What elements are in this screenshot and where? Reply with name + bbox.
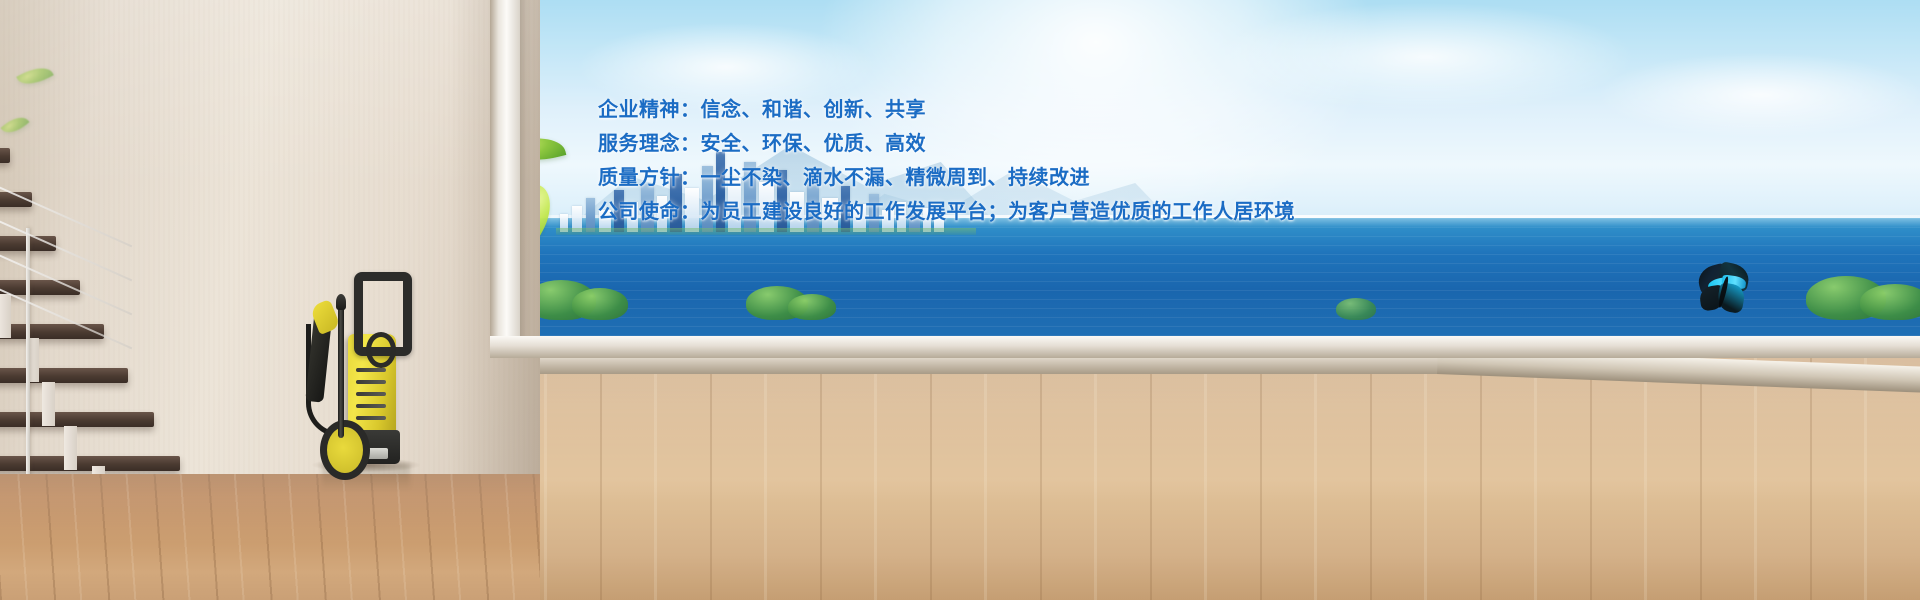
stair-step — [0, 368, 128, 383]
stair-riser — [64, 426, 77, 470]
washer-lance — [338, 304, 344, 438]
culture-line-quality: 质量方针：一尘不染、滴水不漏、精微周到、持续改进 — [598, 160, 1295, 194]
stair-riser — [42, 382, 55, 426]
washer-hose-reel — [366, 332, 396, 368]
washer-vent — [356, 368, 386, 372]
pressure-washer — [306, 258, 424, 470]
washer-vent — [356, 392, 386, 396]
shrub — [1336, 298, 1376, 320]
shrub — [572, 288, 628, 320]
washer-lance-tip — [336, 294, 346, 310]
stair-step — [0, 148, 10, 163]
culture-line-spirit: 企业精神：信念、和谐、创新、共享 — [598, 92, 1295, 126]
washer-vent — [356, 380, 386, 384]
stair-step — [0, 324, 104, 339]
interior-room — [0, 0, 540, 600]
butterfly — [1692, 264, 1754, 316]
cloud — [1596, 52, 1920, 138]
window-frame-left — [490, 0, 520, 358]
city-greenbelt — [556, 228, 976, 235]
stair-riser — [0, 294, 11, 338]
window-sill — [490, 336, 1920, 358]
corporate-culture-banner: 企业精神：信念、和谐、创新、共享 服务理念：安全、环保、优质、高效 质量方针：一… — [0, 0, 1920, 600]
shrub — [788, 294, 836, 320]
staircase — [0, 148, 230, 478]
washer-vent — [356, 416, 386, 420]
floor-gloss — [490, 350, 1920, 600]
wooden-floor-right — [490, 350, 1920, 600]
culture-line-service: 服务理念：安全、环保、优质、高效 — [598, 126, 1295, 160]
floor-gloss — [0, 474, 540, 600]
building — [586, 198, 595, 232]
culture-text-block: 企业精神：信念、和谐、创新、共享 服务理念：安全、环保、优质、高效 质量方针：一… — [598, 92, 1295, 228]
washer-vent — [356, 404, 386, 408]
stair-step — [0, 412, 154, 427]
shrub — [1860, 284, 1920, 320]
washer-wheel — [320, 420, 370, 480]
culture-line-mission: 公司使命：为员工建设良好的工作发展平台；为客户营造优质的工作人居环境 — [598, 194, 1295, 228]
